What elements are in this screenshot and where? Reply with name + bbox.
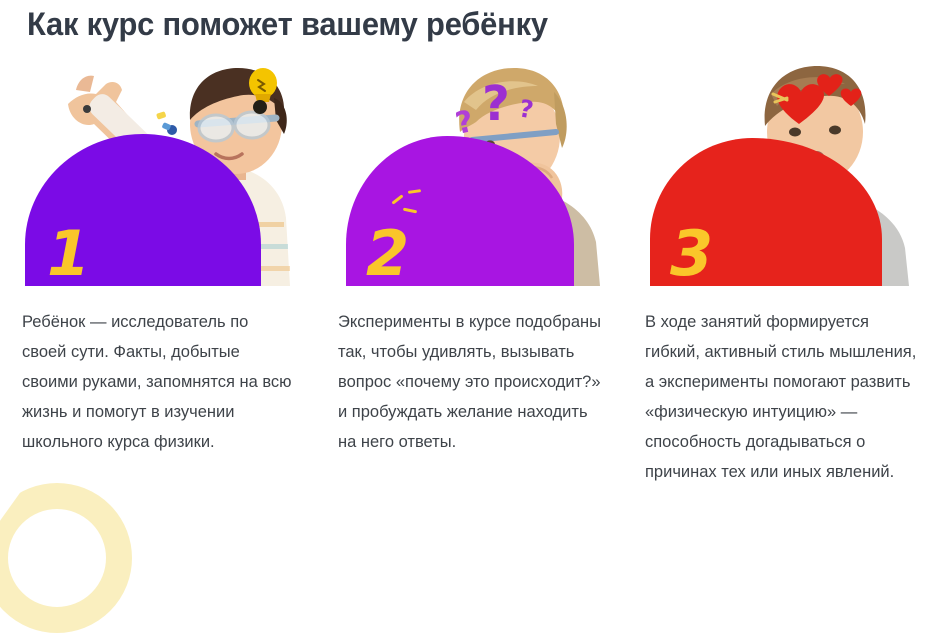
svg-text:?: ?	[482, 76, 510, 132]
lightbulb-icon	[240, 66, 284, 123]
benefits-card-list: 1 Ребёнок — исследователь по своей сути.…	[0, 62, 949, 552]
card-number-2: 2	[366, 223, 408, 285]
question-marks-icon: ? ? ?	[456, 68, 548, 145]
hearts-icon	[771, 68, 867, 135]
benefit-text-1: Ребёнок — исследователь по своей сути. Ф…	[22, 286, 292, 457]
benefit-card-1: 1 Ребёнок — исследователь по своей сути.…	[22, 62, 294, 457]
card-number-3: 3	[670, 223, 712, 285]
benefit-figure-1: 1	[22, 62, 294, 286]
svg-text:?: ?	[517, 94, 536, 124]
svg-text:?: ?	[456, 104, 477, 140]
benefit-text-2: Эксперименты в курсе подобраны так, чтоб…	[338, 286, 608, 457]
benefit-figure-2: ? ? ? 2	[338, 62, 610, 286]
spark-icon	[391, 194, 403, 204]
benefit-figure-3: 3	[645, 62, 917, 286]
benefit-text-3: В ходе занятий формируется гибкий, актив…	[645, 286, 917, 487]
benefit-card-3: 3 В ходе занятий формируется гибкий, акт…	[645, 62, 917, 487]
spark-icon	[403, 208, 417, 214]
card-number-1: 1	[47, 223, 89, 285]
page-title: Как курс поможет вашему ребёнку	[27, 2, 548, 46]
benefit-card-2: ? ? ? 2 Эксперименты в курсе подобраны т…	[338, 62, 610, 457]
spark-icon	[408, 189, 421, 194]
